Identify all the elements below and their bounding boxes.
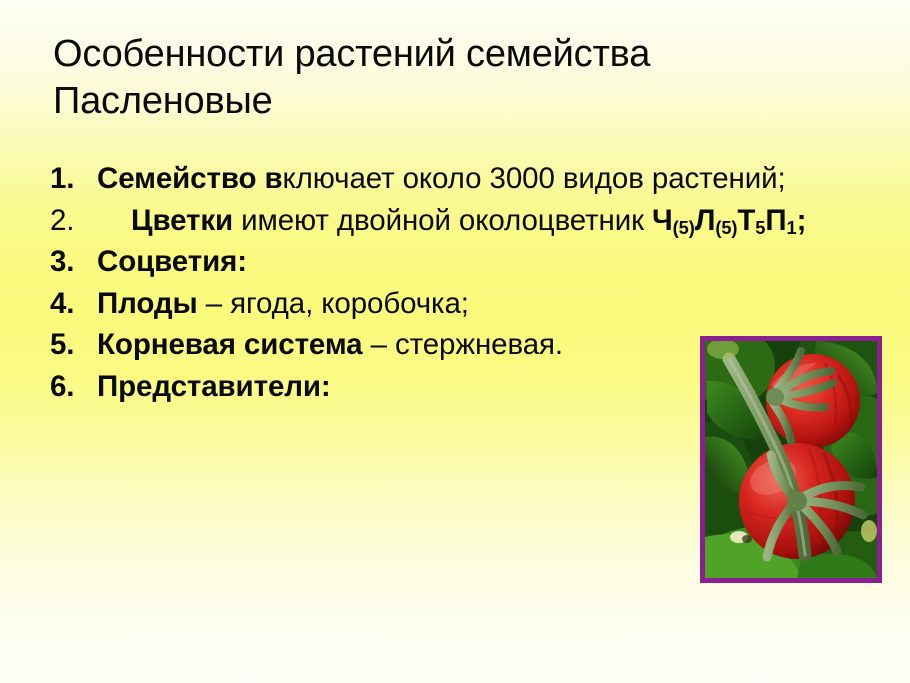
formula-stamens-sub: 5: [755, 217, 765, 238]
list-item-6-bold: Представители:: [97, 370, 331, 403]
formula-corolla: Л: [695, 204, 716, 237]
flower-formula: Ч(5)Л(5)Т5П1;: [652, 204, 806, 237]
list-item-1: 1. Семейство включает около 3000 видов р…: [50, 158, 862, 200]
list-item-4-rest: – ягода, коробочка;: [198, 287, 469, 320]
list-item-1-bold: Семейство в: [97, 162, 283, 195]
list-item-2-bold: Цветки: [131, 204, 233, 237]
list-item-4-number: 4.: [50, 283, 84, 325]
list-item-2: 2. Цветки имеют двойной околоцветник Ч(5…: [50, 200, 862, 242]
page-title: Особенности растений семейства Пасленовы…: [53, 31, 853, 125]
list-item-3-number: 3.: [50, 241, 84, 283]
tomato-photo-frame: [700, 336, 882, 583]
list-item-1-number: 1.: [50, 158, 84, 200]
list-item-5-rest: – стержневая.: [363, 328, 564, 361]
list-item-4: 4. Плоды – ягода, коробочка;: [50, 283, 862, 325]
list-item-2-number: 2.: [50, 200, 84, 242]
slide: Особенности растений семейства Пасленовы…: [0, 0, 910, 683]
list-item-3: 3. Соцветия:: [50, 241, 862, 283]
formula-pistil-sub: 1: [786, 217, 796, 238]
formula-calyx: Ч: [652, 204, 673, 237]
list-item-2-rest: имеют двойной околоцветник: [233, 204, 652, 237]
formula-corolla-sub: (5): [715, 217, 737, 238]
formula-stamens: Т: [737, 204, 755, 237]
list-item-3-text: Соцветия:: [97, 241, 862, 283]
formula-pistil: П: [765, 204, 786, 237]
list-item-5-number: 5.: [50, 324, 84, 366]
list-item-2-text: Цветки имеют двойной околоцветник Ч(5)Л(…: [97, 200, 862, 242]
list-item-6-number: 6.: [50, 366, 84, 408]
list-item-4-text: Плоды – ягода, коробочка;: [97, 283, 862, 325]
formula-terminator: ;: [797, 204, 807, 237]
list-item-1-rest: ключает около 3000 видов растений;: [283, 162, 786, 195]
list-item-3-bold: Соцветия:: [97, 245, 247, 278]
list-item-5-bold: Корневая система: [97, 328, 363, 361]
list-item-1-text: Семейство включает около 3000 видов раст…: [97, 158, 862, 200]
formula-calyx-sub: (5): [673, 217, 695, 238]
list-item-4-bold: Плоды: [97, 287, 198, 320]
tomato-photo: [705, 341, 877, 578]
